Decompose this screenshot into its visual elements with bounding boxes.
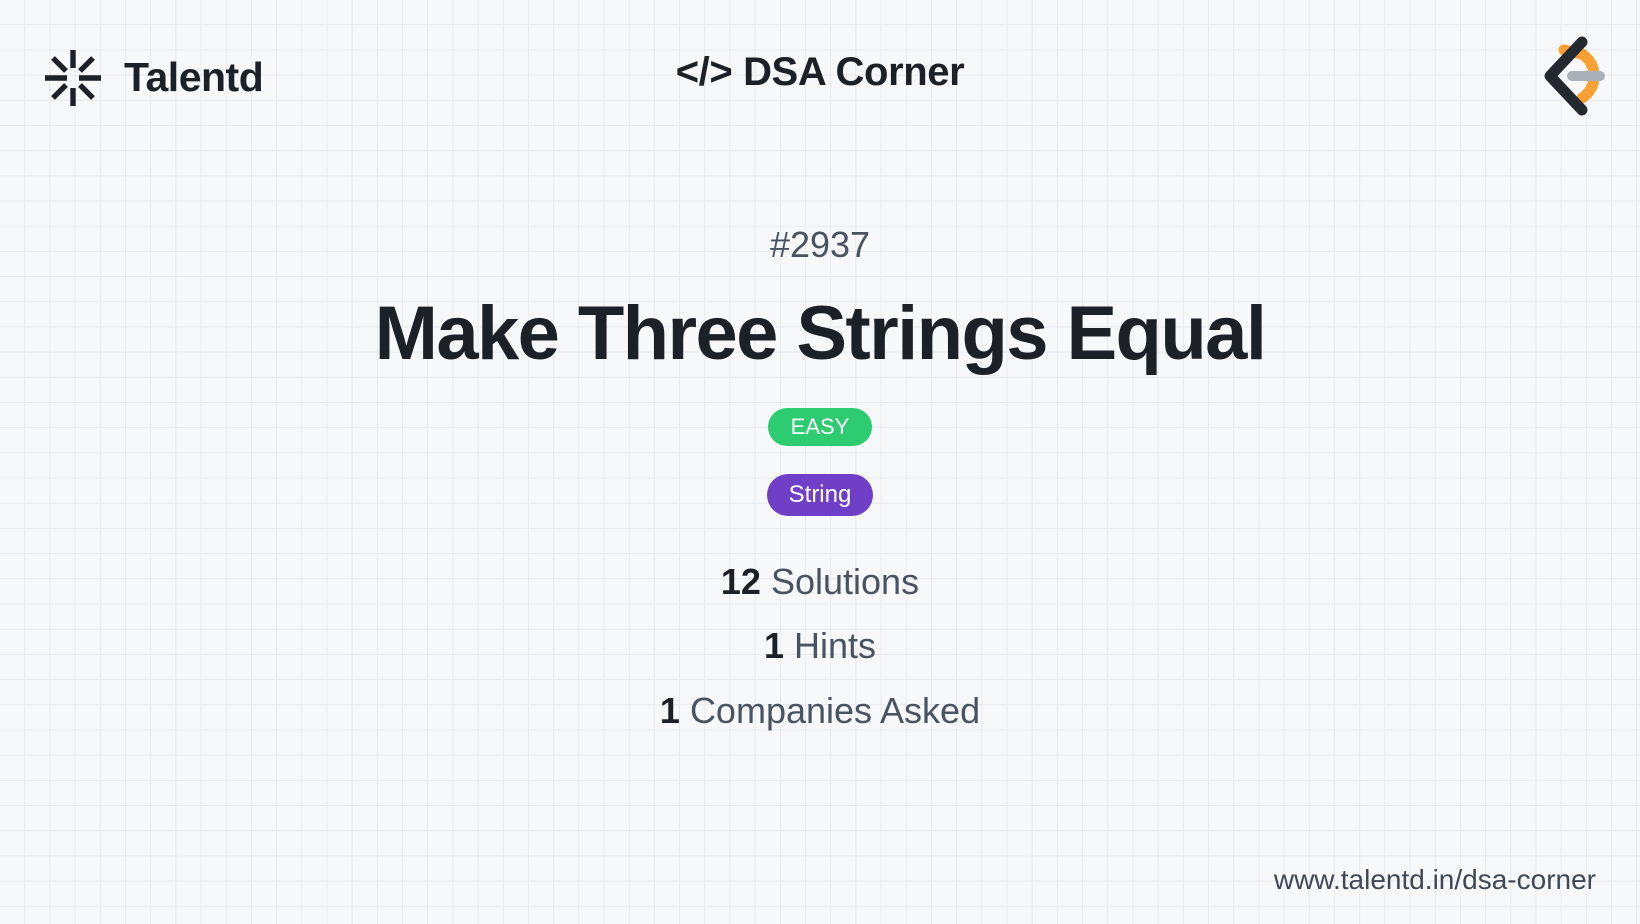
dsa-corner-problem-card: Talentd </> DSA Corner #2937 Make Three …	[0, 0, 1640, 924]
stat-solutions-value: 12	[721, 561, 761, 602]
stat-hints: 1 Hints	[764, 625, 876, 667]
stat-hints-label: Hints	[794, 625, 876, 666]
stat-solutions: 12 Solutions	[721, 561, 919, 603]
page-header: Talentd </> DSA Corner	[0, 0, 1640, 155]
dsa-corner-chevron-icon	[1520, 28, 1616, 124]
stat-hints-value: 1	[764, 625, 784, 666]
difficulty-badge: EASY	[768, 408, 872, 446]
footer-url[interactable]: www.talentd.in/dsa-corner	[1274, 866, 1596, 894]
problem-number: #2937	[770, 227, 870, 263]
stat-companies: 1 Companies Asked	[660, 690, 980, 732]
problem-stats: 12 Solutions 1 Hints 1 Companies Asked	[660, 561, 980, 732]
tag-badge[interactable]: String	[767, 474, 874, 516]
stat-companies-label: Companies Asked	[690, 690, 980, 731]
stat-companies-value: 1	[660, 690, 680, 731]
talentd-asterisk-icon	[42, 47, 104, 109]
brand-logo[interactable]: Talentd	[42, 47, 263, 109]
tag-list: String	[767, 474, 874, 516]
problem-title: Make Three Strings Equal	[375, 294, 1266, 374]
stat-solutions-label: Solutions	[771, 561, 919, 602]
brand-name: Talentd	[124, 57, 263, 98]
problem-main: #2937 Make Three Strings Equal EASY Stri…	[0, 155, 1640, 732]
